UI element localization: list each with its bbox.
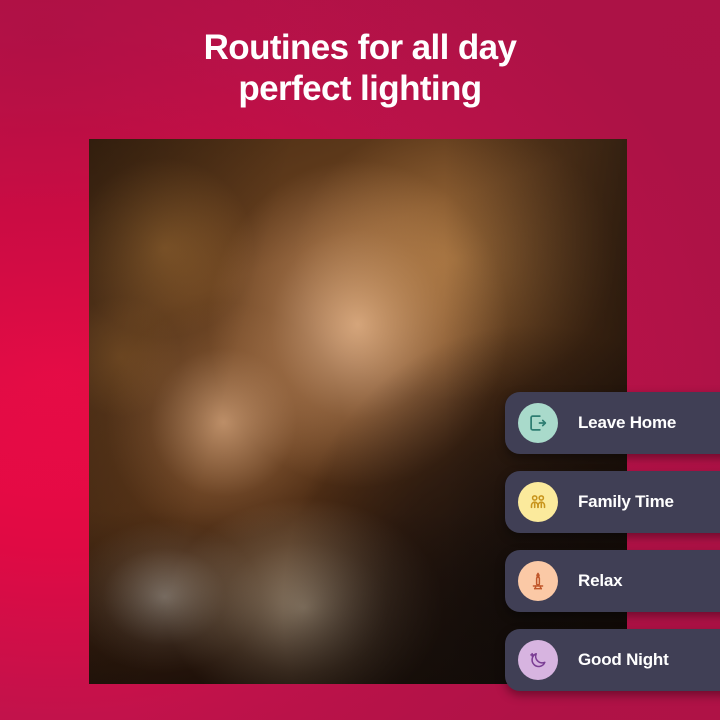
routines-list: Leave Home Family Time — [505, 392, 720, 691]
family-time-chip — [518, 482, 558, 522]
leave-home-chip — [518, 403, 558, 443]
routine-label: Good Night — [578, 650, 669, 670]
good-night-chip — [518, 640, 558, 680]
routine-label: Leave Home — [578, 413, 676, 433]
routine-label: Relax — [578, 571, 622, 591]
routine-card-leave-home[interactable]: Leave Home — [505, 392, 720, 454]
routine-card-relax[interactable]: Relax — [505, 550, 720, 612]
crescent-moon-icon — [527, 649, 549, 671]
page-title: Routines for all day perfect lighting — [0, 27, 720, 110]
page-title-line-2: perfect lighting — [40, 68, 680, 109]
page-title-line-1: Routines for all day — [204, 28, 517, 67]
promo-graphic: Routines for all day perfect lighting Le… — [0, 0, 720, 720]
routine-label: Family Time — [578, 492, 674, 512]
routine-card-good-night[interactable]: Good Night — [505, 629, 720, 691]
candle-icon — [527, 570, 549, 592]
two-people-icon — [527, 491, 549, 513]
exit-door-icon — [527, 412, 549, 434]
routine-card-family-time[interactable]: Family Time — [505, 471, 720, 533]
relax-chip — [518, 561, 558, 601]
